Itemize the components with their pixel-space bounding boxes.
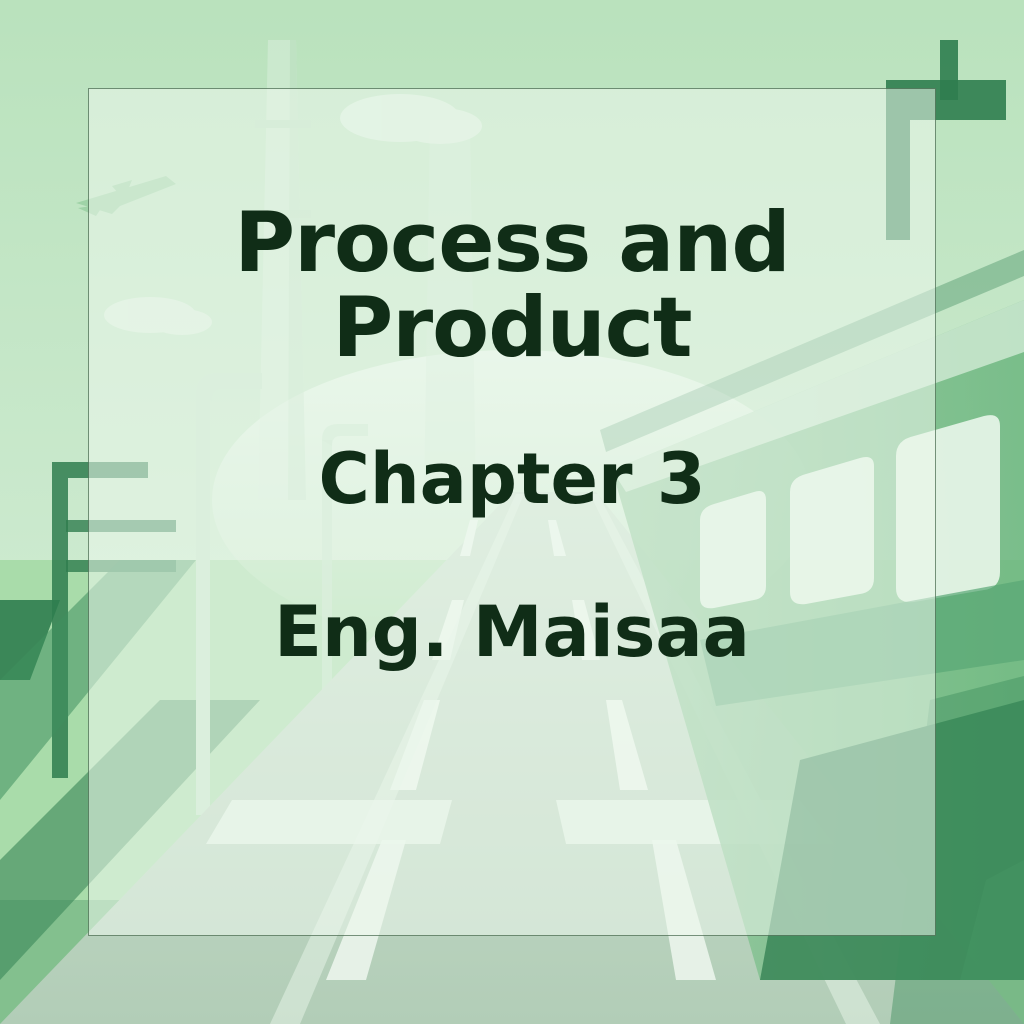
title-text-block: Process and Product Chapter 3 Eng. Maisa…	[88, 88, 936, 936]
title-slide: Process and Product Chapter 3 Eng. Maisa…	[0, 0, 1024, 1024]
chapter-label: Chapter 3	[88, 443, 936, 517]
page-title: Process and Product	[88, 200, 936, 371]
author-label: Eng. Maisaa	[88, 596, 936, 670]
